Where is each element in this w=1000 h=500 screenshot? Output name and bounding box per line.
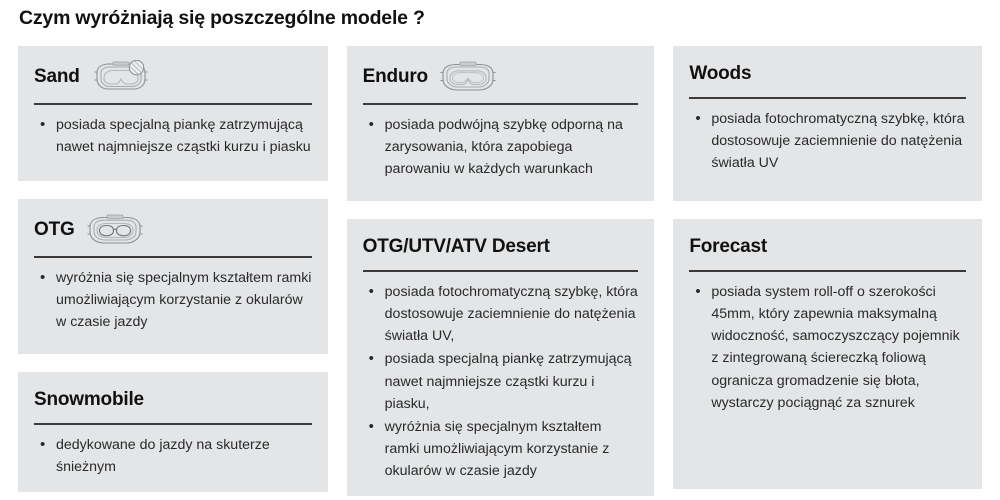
list-item: wyróżnia się specjalnym kształtem ramki … (34, 267, 312, 333)
list-item: posiada specjalną piankę zatrzymującą na… (363, 348, 639, 414)
feature-list: dedykowane do jazdy na skuterze śnieżnym (34, 434, 312, 478)
card-header: Snowmobile (34, 386, 312, 414)
motocross-goggles-with-sand-particle-icon (91, 60, 151, 94)
list-item: posiada fotochromatyczną szybkę, która d… (363, 281, 639, 347)
list-item: posiada specjalną piankę zatrzymującą na… (34, 114, 312, 158)
feature-list: posiada fotochromatyczną szybkę, która d… (689, 108, 966, 174)
comparison-infographic: Czym wyróżniają się poszczególne modele … (0, 0, 1000, 500)
divider (689, 97, 966, 99)
card-sand: Sand posia (18, 46, 328, 181)
feature-list: posiada system roll-off o szerokości 45m… (689, 281, 966, 414)
card-woods: Woods posiada fotochromatyczną szybkę, k… (673, 46, 982, 201)
card-header: Woods (689, 60, 966, 88)
divider (363, 270, 639, 272)
list-item: wyróżnia się specjalnym kształtem ramki … (363, 416, 639, 482)
divider (34, 256, 312, 258)
card-title: Enduro (363, 66, 428, 88)
list-item: posiada fotochromatyczną szybkę, która d… (689, 108, 966, 174)
list-item: posiada system roll-off o szerokości 45m… (689, 281, 966, 414)
card-otg-utv-atv-desert: OTG/UTV/ATV Desert posiada fotochromatyc… (347, 219, 655, 496)
card-title: Snowmobile (34, 389, 144, 411)
motocross-goggles-over-eyeglasses-icon (86, 213, 144, 247)
motocross-goggles-icon (439, 60, 497, 94)
divider (363, 103, 639, 105)
card-columns: Sand posia (18, 46, 982, 496)
card-title: Woods (689, 63, 751, 85)
card-title: OTG (34, 219, 75, 241)
feature-list: posiada fotochromatyczną szybkę, która d… (363, 281, 639, 482)
list-item: posiada podwójną szybkę odporną na zarys… (363, 114, 639, 180)
card-header: Forecast (689, 233, 966, 261)
card-snowmobile: Snowmobile dedykowane do jazdy na skuter… (18, 372, 328, 492)
card-title: OTG/UTV/ATV Desert (363, 236, 550, 258)
list-item: dedykowane do jazdy na skuterze śnieżnym (34, 434, 312, 478)
feature-list: wyróżnia się specjalnym kształtem ramki … (34, 267, 312, 333)
page-title: Czym wyróżniają się poszczególne modele … (19, 7, 425, 30)
card-header: OTG/UTV/ATV Desert (363, 233, 639, 261)
card-enduro: Enduro posiada podwójną s (347, 46, 655, 201)
card-otg: OTG (18, 199, 328, 354)
feature-list: posiada specjalną piankę zatrzymującą na… (34, 114, 312, 158)
card-header: Enduro (363, 60, 639, 94)
divider (689, 270, 966, 272)
card-header: OTG (34, 213, 312, 247)
card-header: Sand (34, 60, 312, 94)
card-title: Sand (34, 66, 80, 88)
divider (34, 103, 312, 105)
column-right: Woods posiada fotochromatyczną szybkę, k… (673, 46, 982, 489)
card-title: Forecast (689, 236, 767, 258)
column-left: Sand posia (18, 46, 328, 492)
column-middle: Enduro posiada podwójną s (347, 46, 655, 496)
divider (34, 423, 312, 425)
card-forecast: Forecast posiada system roll-off o szero… (673, 219, 982, 489)
feature-list: posiada podwójną szybkę odporną na zarys… (363, 114, 639, 180)
